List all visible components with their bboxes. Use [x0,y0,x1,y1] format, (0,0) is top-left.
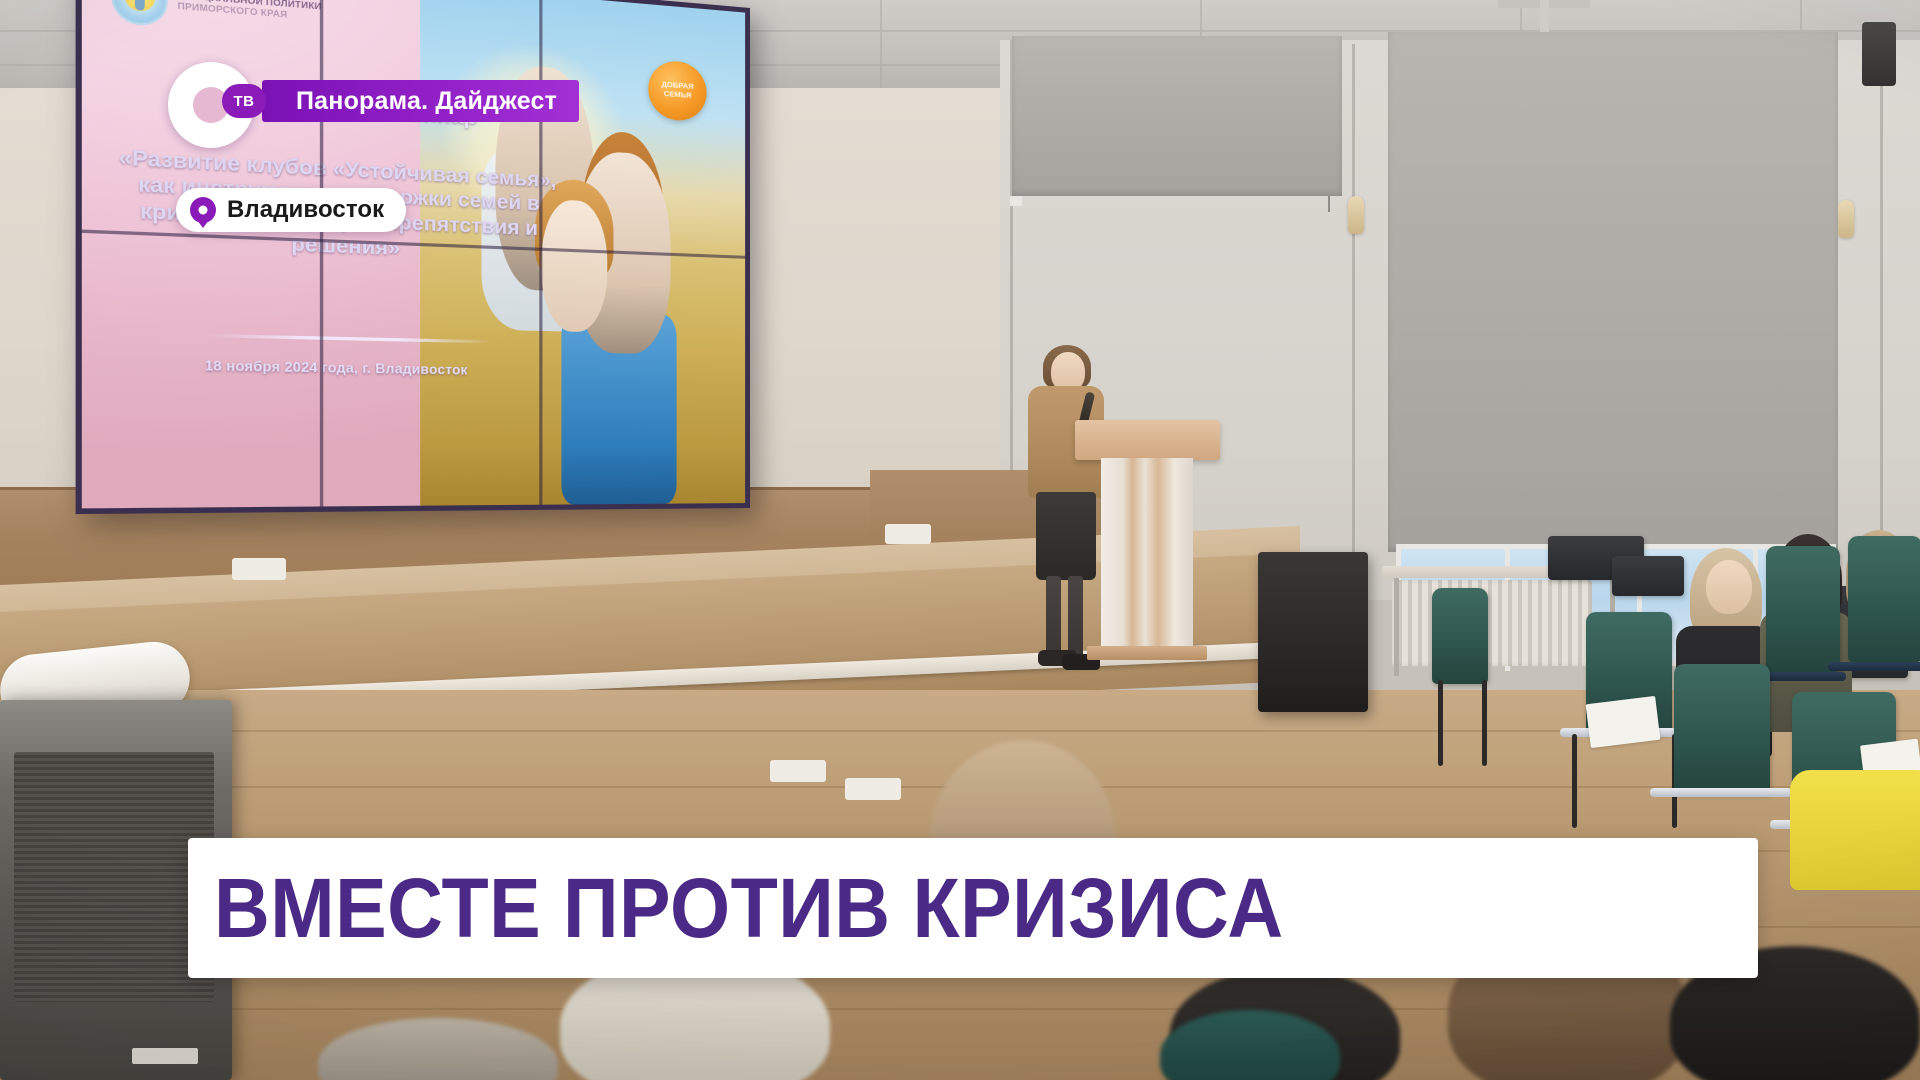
ministry-header: МИНИСТЕРСТВО ТРУДА И СОЦИАЛЬНОЙ ПОЛИТИКИ… [112,0,512,53]
badge-line-2: СЕМЬЯ [664,89,692,100]
podium-top [1075,420,1220,460]
floor-socket[interactable] [770,760,826,782]
lower-third-banner: ВМЕСТЕ ПРОТИВ КРИЗИСА [188,838,1758,978]
podium-base [1087,646,1207,660]
wall-seam [1880,40,1883,560]
tv-badge: ТВ [222,84,266,118]
program-title-bar: Панорама. Дайджест [262,80,579,122]
ministry-emblem-icon [112,0,168,27]
audience-member-yellow [1790,770,1920,890]
wall-seam [1352,44,1355,604]
handout-paper [1586,696,1661,748]
wall-speaker [1862,22,1896,86]
video-frame: МИНИСТЕРСТВО ТРУДА И СОЦИАЛЬНОЙ ПОЛИТИКИ… [0,0,1920,1080]
headline-text: ВМЕСТЕ ПРОТИВ КРИЗИСА [214,866,1284,950]
wall-sconce [1348,196,1364,234]
wooden-podium [1075,420,1220,660]
wall-sconce [1838,200,1854,238]
podium-body [1101,458,1193,648]
blind-pull-cord[interactable] [1328,196,1330,212]
laptop-bag [1612,556,1684,596]
floor-socket[interactable] [845,778,901,800]
wall-socket[interactable] [232,558,286,580]
program-title-text: Панорама. Дайджест [296,87,557,116]
panel-seam [320,0,323,506]
panel-seam [540,0,543,505]
radiator [1392,580,1592,666]
table-leg [1394,578,1399,676]
speaker-grille [14,752,214,1002]
ministry-name: МИНИСТЕРСТВО ТРУДА И СОЦИАЛЬНОЙ ПОЛИТИКИ… [177,0,321,23]
map-pin-icon [190,197,216,223]
wall-socket[interactable] [885,524,931,544]
presenter-leg [1046,576,1061,660]
location-label: Владивосток [227,196,384,224]
stage-subwoofer [1258,552,1368,712]
location-pill: Владивосток [176,188,406,232]
roller-blind[interactable] [1012,36,1342,196]
roller-blind[interactable] [1388,32,1838,552]
speaker-badge [132,1048,198,1064]
tv-badge-text: ТВ [234,93,255,110]
window [1010,196,1022,206]
